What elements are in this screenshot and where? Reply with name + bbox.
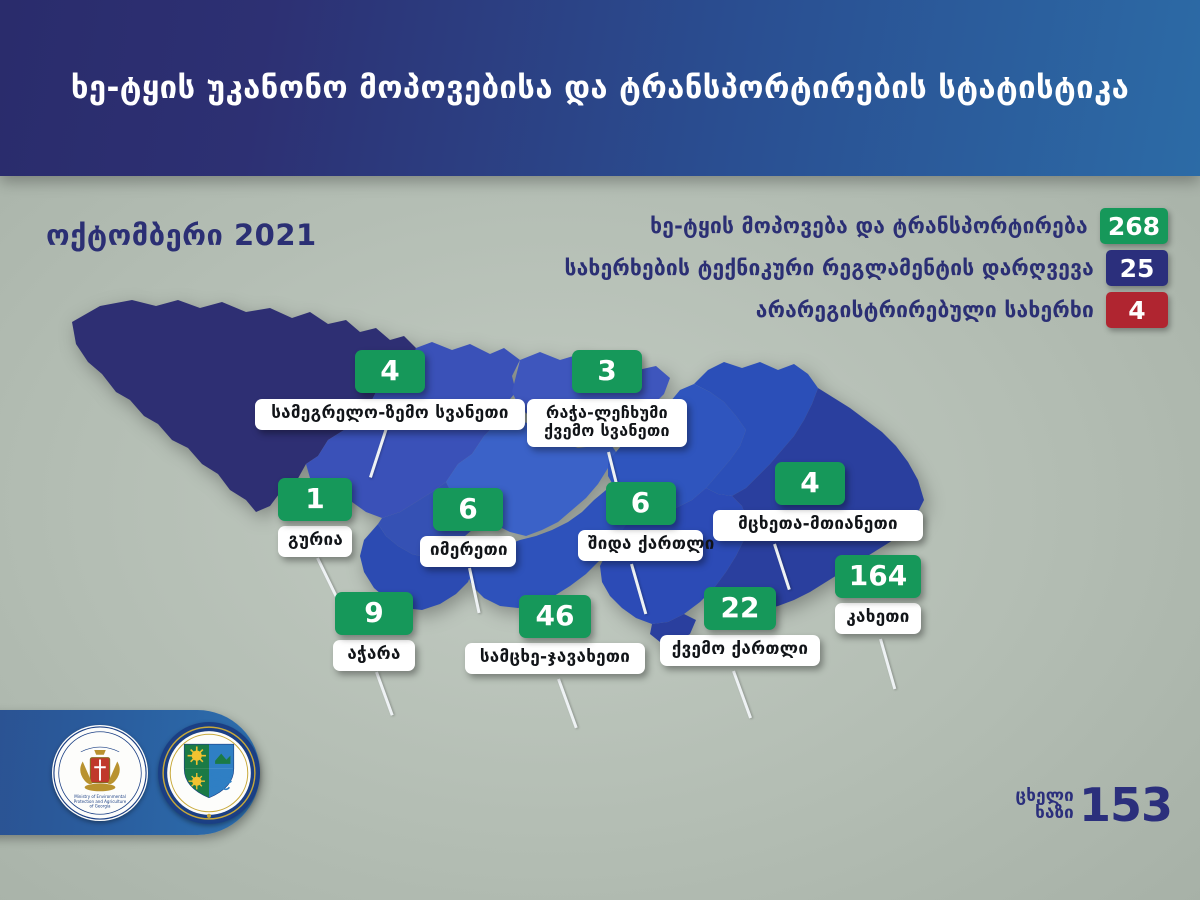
map-marker-shida-kartli[interactable]: 6 შიდა ქართლი bbox=[578, 482, 703, 561]
marker-label: სამეგრელო-ზემო სვანეთი bbox=[255, 399, 525, 430]
map-marker-kakheti[interactable]: 164 კახეთი bbox=[835, 555, 921, 634]
svg-text:of Georgia: of Georgia bbox=[90, 804, 111, 809]
marker-value: 6 bbox=[433, 488, 503, 531]
marker-label: აჭარა bbox=[333, 640, 415, 671]
marker-label: რაჭა-ლეჩხუმი ქვემო სვანეთი bbox=[527, 399, 687, 447]
ministry-emblem-graphic: Ministry of Environmental Protection and… bbox=[52, 725, 148, 821]
marker-value: 164 bbox=[835, 555, 921, 598]
legend-row: ხე-ტყის მოპოვება და ტრანსპორტირება 268 bbox=[408, 208, 1168, 244]
marker-label: იმერეთი bbox=[420, 536, 516, 567]
map-marker-racha-lechkhumi-kvemo-svaneti[interactable]: 3 რაჭა-ლეჩხუმი ქვემო სვანეთი bbox=[527, 350, 687, 447]
legend-label: ხე-ტყის მოპოვება და ტრანსპორტირება bbox=[650, 214, 1088, 238]
map-marker-samtskhe-javakheti[interactable]: 46 სამცხე-ჯავახეთი bbox=[465, 595, 645, 674]
marker-label: სამცხე-ჯავახეთი bbox=[465, 643, 645, 674]
date-label: ოქტომბერი 2021 bbox=[46, 218, 317, 252]
marker-value: 6 bbox=[606, 482, 676, 525]
marker-value: 46 bbox=[519, 595, 591, 638]
department-of-environmental-supervision-emblem bbox=[158, 722, 260, 824]
map-marker-imereti[interactable]: 6 იმერეთი bbox=[420, 488, 516, 567]
map-marker-samegrelo-zemo-svaneti[interactable]: 4 სამეგრელო-ზემო სვანეთი bbox=[255, 350, 525, 430]
marker-value: 4 bbox=[775, 462, 845, 505]
marker-value: 9 bbox=[335, 592, 413, 635]
supervision-emblem-graphic bbox=[158, 722, 260, 824]
map-marker-adjara[interactable]: 9 აჭარა bbox=[333, 592, 415, 671]
logo-pill: Ministry of Environmental Protection and… bbox=[0, 710, 260, 835]
page-title: ხე-ტყის უკანონო მოპოვებისა და ტრანსპორტი… bbox=[0, 70, 1200, 106]
marker-value: 4 bbox=[355, 350, 425, 393]
marker-label: კახეთი bbox=[835, 603, 921, 634]
hotline-number: 153 bbox=[1079, 778, 1172, 832]
marker-value: 22 bbox=[704, 587, 776, 630]
infographic-poster: ხე-ტყის უკანონო მოპოვებისა და ტრანსპორტი… bbox=[0, 0, 1200, 900]
marker-label: მცხეთა-მთიანეთი bbox=[713, 510, 923, 541]
marker-label: გურია bbox=[278, 526, 352, 557]
marker-label: შიდა ქართლი bbox=[578, 530, 703, 561]
map-marker-mtskheta-mtianeti[interactable]: 4 მცხეთა-მთიანეთი bbox=[713, 462, 923, 541]
marker-value: 3 bbox=[572, 350, 642, 393]
ministry-of-environmental-protection-and-agriculture-of-georgia-emblem: Ministry of Environmental Protection and… bbox=[52, 725, 148, 821]
marker-label: ქვემო ქართლი bbox=[660, 635, 820, 666]
hotline: ცხელი ხაზი 153 bbox=[1015, 778, 1172, 832]
marker-value: 1 bbox=[278, 478, 352, 521]
map-of-georgia: 4 სამეგრელო-ზემო სვანეთი 3 რაჭა-ლეჩხუმი … bbox=[0, 250, 1200, 770]
map-marker-guria[interactable]: 1 გურია bbox=[278, 478, 352, 557]
legend-value-badge: 268 bbox=[1100, 208, 1168, 244]
hotline-label-line2: ხაზი bbox=[1015, 805, 1074, 822]
hotline-label: ცხელი ხაზი bbox=[1015, 788, 1074, 823]
map-marker-kvemo-kartli[interactable]: 22 ქვემო ქართლი bbox=[660, 587, 820, 666]
header-banner: ხე-ტყის უკანონო მოპოვებისა და ტრანსპორტი… bbox=[0, 0, 1200, 176]
